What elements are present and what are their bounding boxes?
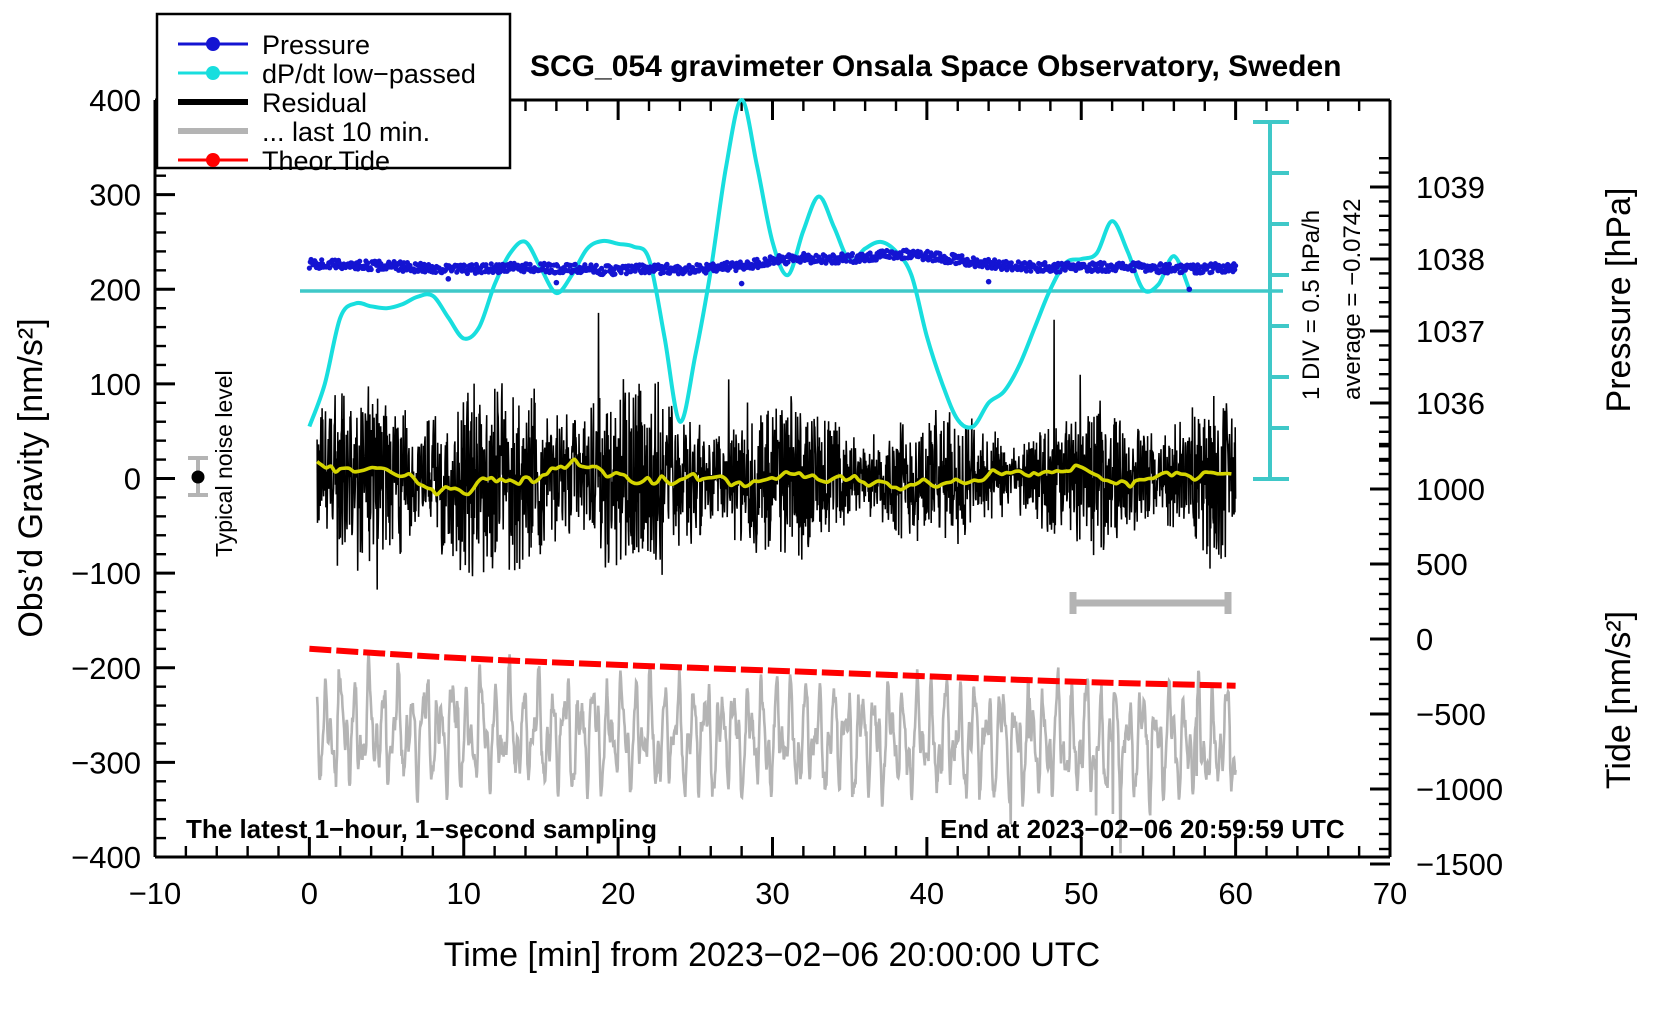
bottom-tick-label: 0 bbox=[301, 876, 318, 911]
legend[interactable]: PressuredP/dt low−passedResidual... last… bbox=[157, 14, 510, 176]
footer-left-note: The latest 1−hour, 1−second sampling bbox=[186, 814, 657, 844]
legend-label: dP/dt low−passed bbox=[262, 59, 476, 89]
bottom-tick-label: 20 bbox=[601, 876, 635, 911]
bottom-tick-label: 70 bbox=[1373, 876, 1407, 911]
left-tick-label: −300 bbox=[71, 745, 141, 780]
legend-label: Theor.Tide bbox=[262, 146, 390, 176]
plot-canvas: 4003002001000−100−200−300−400 −100102030… bbox=[0, 0, 1660, 1020]
right-pressure-tick-label: 1037 bbox=[1416, 314, 1485, 349]
right-pressure-axis-title: Pressure [hPa] bbox=[1600, 188, 1638, 413]
right-tide-tick-label: −1000 bbox=[1416, 772, 1503, 807]
right-pressure-tick-label: 1036 bbox=[1416, 386, 1485, 421]
legend-label: ... last 10 min. bbox=[262, 117, 430, 147]
typical-noise-level-label: Typical noise level bbox=[211, 370, 237, 557]
left-axis-title: Obs’d Gravity [nm/s²] bbox=[12, 318, 50, 637]
left-tick-label: 400 bbox=[89, 83, 141, 118]
left-tick-label: −400 bbox=[71, 840, 141, 875]
right-tide-axis-title: Tide [nm/s²] bbox=[1600, 611, 1638, 789]
left-tick-label: −100 bbox=[71, 556, 141, 591]
bottom-tick-label: 50 bbox=[1064, 876, 1098, 911]
legend-label: Residual bbox=[262, 88, 367, 118]
bottom-tick-label: 30 bbox=[755, 876, 789, 911]
left-tick-label: 100 bbox=[89, 367, 141, 402]
average-label: average = −0.0742 bbox=[1339, 198, 1366, 400]
right-tide-tick-label: −500 bbox=[1416, 697, 1486, 732]
right-tide-tick-label: 500 bbox=[1416, 547, 1468, 582]
gravimeter-plot-page: 4003002001000−100−200−300−400 −100102030… bbox=[0, 0, 1660, 1020]
right-pressure-tick-label: 1039 bbox=[1416, 170, 1485, 205]
right-tide-tick-label: 0 bbox=[1416, 622, 1433, 657]
left-tick-label: 200 bbox=[89, 272, 141, 307]
page-title: SCG_054 gravimeter Onsala Space Observat… bbox=[530, 50, 1342, 83]
bottom-axis-title: Time [min] from 2023−02−06 20:00:00 UTC bbox=[444, 936, 1100, 974]
bottom-tick-label: −10 bbox=[129, 876, 182, 911]
div-scale-label: 1 DIV = 0.5 hPa/h bbox=[1298, 210, 1325, 400]
bottom-tick-label: 10 bbox=[447, 876, 481, 911]
right-tide-tick-label: −1500 bbox=[1416, 847, 1503, 882]
bottom-tick-label: 40 bbox=[910, 876, 944, 911]
right-pressure-tick-label: 1038 bbox=[1416, 242, 1485, 277]
right-tide-tick-label: 1000 bbox=[1416, 472, 1485, 507]
left-tick-label: 300 bbox=[89, 178, 141, 213]
footer-right-note: End at 2023−02−06 20:59:59 UTC bbox=[940, 814, 1345, 844]
bottom-tick-label: 60 bbox=[1218, 876, 1252, 911]
left-tick-label: −200 bbox=[71, 651, 141, 686]
left-tick-label: 0 bbox=[124, 462, 141, 497]
legend-label: Pressure bbox=[262, 30, 370, 60]
